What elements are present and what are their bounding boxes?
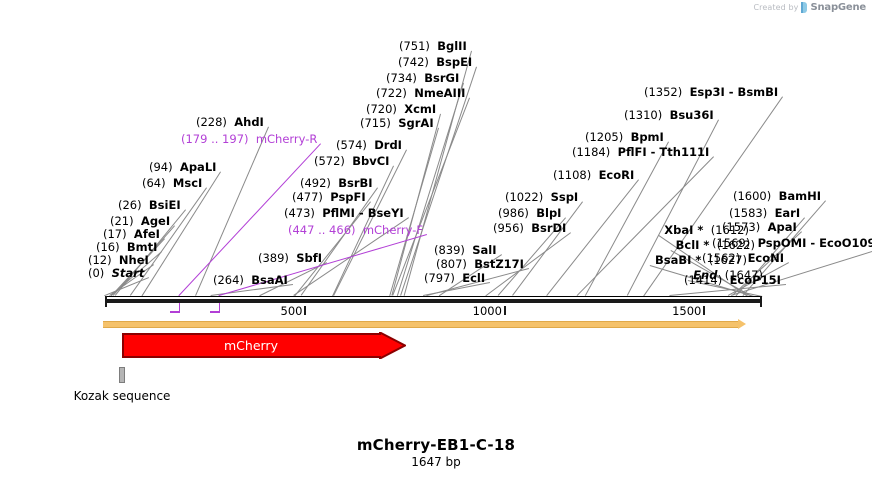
orf-arrowhead-icon [738, 319, 746, 329]
enzyme-name: SbfI [296, 251, 322, 265]
restriction-site-label-bpmi[interactable]: (1205) BpmI [585, 131, 664, 144]
enzyme-name: BspEI [436, 55, 472, 69]
restriction-site-label-bamhi[interactable]: (1600) BamHI [733, 190, 821, 203]
enzyme-name: AgeI [141, 214, 170, 228]
restriction-site-label-agei[interactable]: (21) AgeI [110, 215, 170, 228]
enzyme-name: BsrBI [338, 176, 372, 190]
site-position: (447 .. 466) [288, 223, 363, 237]
site-position: (264) [213, 273, 251, 287]
site-position: (179 .. 197) [181, 132, 256, 146]
primer-label-mcherry-f[interactable]: (447 .. 466) mCherry-F [288, 224, 423, 237]
primer-hook-foot-mcherry-f [210, 311, 220, 313]
backbone-thick-bar [105, 299, 762, 303]
restriction-site-label-pflmi-bseyi[interactable]: (473) PflMI - BseYI [284, 207, 404, 220]
enzyme-name: ApaI [768, 220, 797, 234]
enzyme-name: BsaAI [251, 273, 288, 287]
orf-line [103, 321, 739, 328]
site-position: (389) [258, 251, 296, 265]
sequence-backbone [105, 296, 762, 304]
site-position: (17) [103, 227, 134, 241]
snapgene-logo-icon [801, 2, 807, 13]
restriction-site-label-bsrbi[interactable]: (492) BsrBI [300, 177, 373, 190]
enzyme-name: BmtI [127, 240, 158, 254]
site-position: (722) [376, 86, 414, 100]
restriction-site-label-xbai[interactable]: XbaI * (1612) [664, 224, 749, 237]
restriction-site-label-bsrgi[interactable]: (734) BsrGI [386, 72, 459, 85]
restriction-site-label-msci[interactable]: (64) MscI [142, 177, 202, 190]
enzyme-name: NmeAIII [414, 86, 465, 100]
ruler-tick-500 [304, 306, 306, 315]
site-position: (26) [118, 198, 149, 212]
site-position: (986) [498, 206, 536, 220]
restriction-site-label-bsaai[interactable]: (264) BsaAI [213, 274, 288, 287]
backbone-start-cap [105, 296, 107, 307]
restriction-site-label-sgrai[interactable]: (715) SgrAI [360, 117, 434, 130]
restriction-site-label-bglii[interactable]: (751) BglII [399, 40, 467, 53]
restriction-site-label-nhei[interactable]: (12) NheI [88, 254, 149, 267]
restriction-site-label-esp3i-bsmbi[interactable]: (1352) Esp3I - BsmBI [644, 86, 778, 99]
site-position: (956) [493, 221, 531, 235]
plasmid-length: 1647 bp [0, 455, 872, 469]
site-position: (797) [424, 271, 462, 285]
restriction-site-label-ecori[interactable]: (1108) EcoRI [553, 169, 634, 182]
restriction-site-label-bstz17i[interactable]: (807) BstZ17I [436, 258, 524, 271]
enzyme-name: EcoRI [599, 168, 635, 182]
enzyme-name: EcoNI [748, 251, 784, 265]
site-position: (720) [366, 102, 404, 116]
site-position: (12) [88, 253, 119, 267]
enzyme-name: AhdI [234, 115, 264, 129]
site-position: (1184) [572, 145, 618, 159]
restriction-site-label-bsiei[interactable]: (26) BsiEI [118, 199, 181, 212]
enzyme-name: PspFI [330, 190, 365, 204]
site-position: (574) [336, 138, 374, 152]
enzyme-name: BpmI [631, 130, 664, 144]
credit-prefix: Created by [753, 3, 798, 12]
site-position: (1600) [733, 189, 779, 203]
enzyme-name: PflMI - BseYI [322, 206, 403, 220]
plasmid-map-canvas: Created by SnapGene (0) Start(12) NheI(1… [0, 0, 872, 478]
enzyme-name: BsaBI * [655, 253, 701, 267]
site-position: (1647) [717, 268, 763, 282]
restriction-site-label-ecli[interactable]: (797) EclI [424, 272, 485, 285]
enzyme-name: BglII [437, 39, 467, 53]
site-position: (1622) [709, 238, 755, 252]
ruler-tick-1500 [703, 306, 705, 315]
enzyme-name: SalI [472, 243, 496, 257]
enzyme-name: BlpI [536, 206, 561, 220]
restriction-site-label-bbvci[interactable]: (572) BbvCI [314, 155, 389, 168]
feature-mcherry[interactable]: mCherry [122, 332, 406, 359]
enzyme-name: NheI [119, 253, 149, 267]
restriction-site-label-bsabi[interactable]: BsaBI * (1627) [655, 254, 747, 267]
site-position: (1352) [644, 85, 690, 99]
ruler-label-1500: 1500 [672, 305, 703, 317]
restriction-site-label-end[interactable]: End (1647) [693, 269, 763, 282]
site-position: (64) [142, 176, 173, 190]
enzyme-name: PspOMI - EcoO109I [758, 236, 872, 250]
backbone-end-cap [760, 296, 762, 307]
primer-name: mCherry-R [256, 132, 318, 146]
restriction-site-label-pspfi[interactable]: (477) PspFI [292, 191, 366, 204]
site-position: (1022) [505, 190, 551, 204]
restriction-site-label-pflfi-tth111i[interactable]: (1184) PflFI - Tth111I [572, 146, 709, 159]
site-position: (492) [300, 176, 338, 190]
restriction-site-label-start[interactable]: (0) Start [88, 267, 144, 280]
restriction-site-label-xcmi[interactable]: (720) XcmI [366, 103, 436, 116]
snapgene-credit: Created by SnapGene [753, 2, 866, 13]
primer-name: mCherry-F [363, 223, 423, 237]
site-position: (715) [360, 116, 398, 130]
enzyme-name: BamHI [779, 189, 821, 203]
site-position: (751) [399, 39, 437, 53]
site-position: (94) [149, 160, 180, 174]
enzyme-name: ApaLI [180, 160, 217, 174]
enzyme-name: BbvCI [352, 154, 389, 168]
ruler-label-1000: 1000 [473, 305, 504, 317]
site-position: (572) [314, 154, 352, 168]
enzyme-name: BsiEI [149, 198, 181, 212]
restriction-site-label-bspei[interactable]: (742) BspEI [398, 56, 472, 69]
restriction-site-label-eari[interactable]: (1583) EarI [729, 207, 800, 220]
restriction-site-label-bsu36i[interactable]: (1310) Bsu36I [624, 109, 714, 122]
restriction-site-label-nmeaiii[interactable]: (722) NmeAIII [376, 87, 465, 100]
enzyme-name: DrdI [374, 138, 402, 152]
kozak-label: Kozak sequence [74, 389, 171, 403]
enzyme-name: SspI [551, 190, 579, 204]
site-position: (228) [196, 115, 234, 129]
site-position: (1583) [729, 206, 775, 220]
site-position: (1612) [703, 223, 749, 237]
site-position: (0) [88, 266, 112, 280]
enzyme-name: PflFI - Tth111I [618, 145, 710, 159]
feature-mcherry-label: mCherry [122, 332, 380, 359]
enzyme-name: XcmI [404, 102, 436, 116]
enzyme-name: AfeI [134, 227, 160, 241]
restriction-site-label-sali[interactable]: (839) SalI [434, 244, 497, 257]
site-position: (1108) [553, 168, 599, 182]
enzyme-name: Start [112, 266, 145, 280]
credit-brand: SnapGene [810, 2, 866, 13]
enzyme-name: BstZ17I [474, 257, 524, 271]
restriction-site-label-drdi[interactable]: (574) DrdI [336, 139, 402, 152]
site-position: (839) [434, 243, 472, 257]
site-position: (477) [292, 190, 330, 204]
primer-label-mcherry-r[interactable]: (179 .. 197) mCherry-R [181, 133, 317, 146]
restriction-site-label-afei[interactable]: (17) AfeI [103, 228, 160, 241]
enzyme-name: EclI [462, 271, 485, 285]
kozak-marker[interactable] [119, 367, 125, 383]
enzyme-name: Bsu36I [670, 108, 714, 122]
enzyme-name: Esp3I - BsmBI [690, 85, 779, 99]
enzyme-name: EarI [775, 206, 801, 220]
backbone-thin-line [105, 296, 762, 297]
leader-line-bpmi [585, 142, 669, 296]
restriction-site-label-sspi[interactable]: (1022) SspI [505, 191, 578, 204]
ruler-label-500: 500 [281, 305, 305, 317]
restriction-site-label-bmti[interactable]: (16) BmtI [96, 241, 157, 254]
site-position: (1627) [701, 253, 747, 267]
enzyme-name: BclI * [676, 238, 710, 252]
page-title: mCherry-EB1-C-18 [0, 436, 872, 454]
site-position: (807) [436, 257, 474, 271]
enzyme-name: XbaI * [664, 223, 703, 237]
enzyme-name: End [693, 268, 717, 282]
enzyme-name: MscI [173, 176, 202, 190]
site-position: (21) [110, 214, 141, 228]
restriction-site-label-sbfi[interactable]: (389) SbfI [258, 252, 322, 265]
enzyme-name: SgrAI [398, 116, 433, 130]
site-position: (16) [96, 240, 127, 254]
site-position: (1310) [624, 108, 670, 122]
enzyme-name: BsrDI [531, 221, 566, 235]
site-position: (473) [284, 206, 322, 220]
primer-hook-foot-mcherry-r [170, 311, 180, 313]
restriction-site-label-ahdi[interactable]: (228) AhdI [196, 116, 264, 129]
restriction-site-label-bcli[interactable]: BclI * (1622) [676, 239, 755, 252]
restriction-site-label-bsrdi[interactable]: (956) BsrDI [493, 222, 566, 235]
restriction-site-label-blpi[interactable]: (986) BlpI [498, 207, 561, 220]
ruler-tick-1000 [504, 306, 506, 315]
enzyme-name: BsrGI [424, 71, 459, 85]
site-position: (1205) [585, 130, 631, 144]
restriction-site-label-apali[interactable]: (94) ApaLI [149, 161, 216, 174]
site-position: (734) [386, 71, 424, 85]
site-position: (742) [398, 55, 436, 69]
